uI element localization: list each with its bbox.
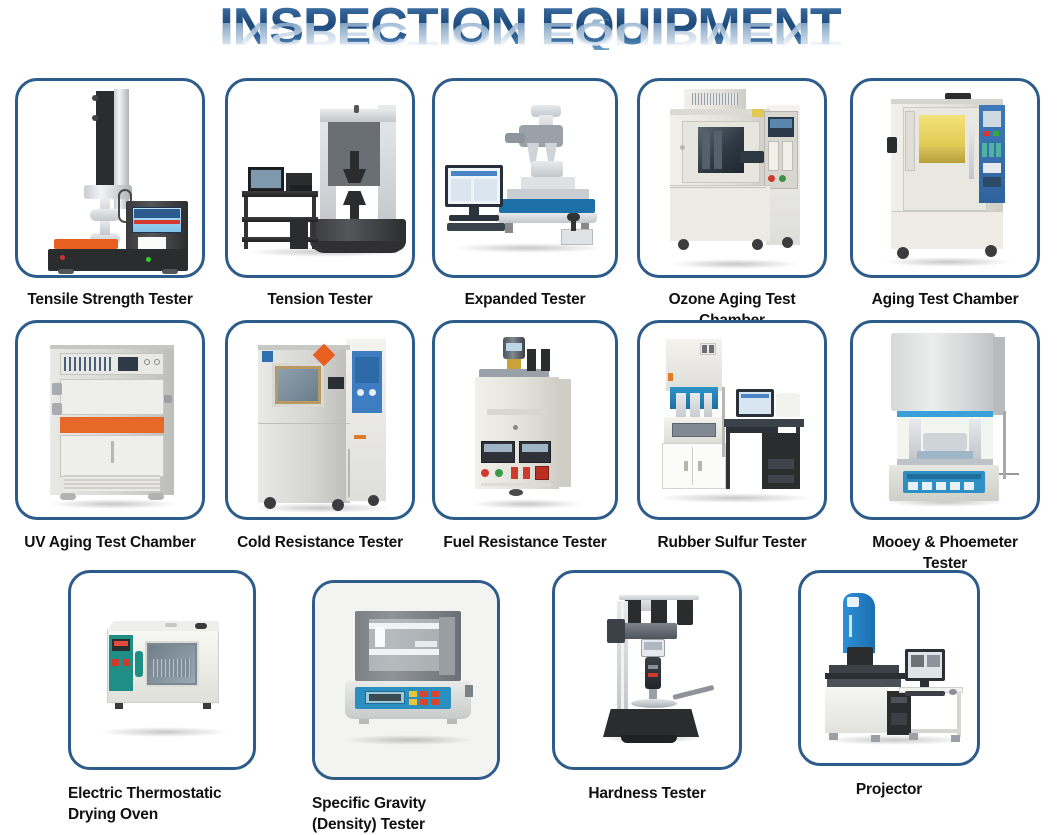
equipment-image-electric-thermostatic-drying-oven [71,573,253,767]
equipment-cell-hardness-tester[interactable]: Hardness Tester [552,570,742,804]
equipment-label-uv-aging-test-chamber: UV Aging Test Chamber [15,532,205,553]
equipment-image-cold-resistance-tester [228,323,412,517]
equipment-card-ozone-aging-test-chamber[interactable] [637,78,827,278]
equipment-card-rubber-sulfur-tester[interactable] [637,320,827,520]
equipment-cell-tension-tester[interactable]: Tension Tester [225,78,415,310]
page-header: INSPECTION EQUIPMENT INSPECTION EQUIPMEN… [0,0,1060,72]
equipment-label-rubber-sulfur-tester: Rubber Sulfur Tester [637,532,827,553]
page-title-reflection: INSPECTION EQUIPMENT [0,19,1060,48]
equipment-card-uv-aging-test-chamber[interactable] [15,320,205,520]
equipment-card-tensile-strength-tester[interactable] [15,78,205,278]
equipment-image-expanded-tester [435,81,615,275]
equipment-cell-electric-thermostatic-drying-oven[interactable]: Electric Thermostatic Drying Oven [68,570,256,825]
equipment-card-tension-tester[interactable] [225,78,415,278]
equipment-label-tension-tester: Tension Tester [225,289,415,310]
equipment-label-cold-resistance-tester: Cold Resistance Tester [225,532,415,553]
equipment-label-hardness-tester: Hardness Tester [552,783,742,804]
equipment-card-cold-resistance-tester[interactable] [225,320,415,520]
equipment-label-tensile-strength-tester: Tensile Strength Tester [15,289,205,310]
equipment-image-rubber-sulfur-tester [640,323,824,517]
equipment-image-mooey-phoemeter-tester [853,323,1037,517]
equipment-card-projector[interactable] [798,570,980,766]
equipment-label-projector: Projector [798,779,980,800]
equipment-label-aging-test-chamber: Aging Test Chamber [850,289,1040,310]
equipment-card-electric-thermostatic-drying-oven[interactable] [68,570,256,770]
equipment-card-fuel-resistance-tester[interactable] [432,320,618,520]
equipment-cell-ozone-aging-test-chamber[interactable]: Ozone Aging Test Chamber [637,78,827,331]
equipment-image-ozone-aging-test-chamber [640,81,824,275]
equipment-image-aging-test-chamber [853,81,1037,275]
equipment-cell-mooey-phoemeter-tester[interactable]: Mooey & Phoemeter Tester [850,320,1040,574]
equipment-cell-aging-test-chamber[interactable]: Aging Test Chamber [850,78,1040,310]
equipment-image-tension-tester [228,81,412,275]
equipment-cell-fuel-resistance-tester[interactable]: Fuel Resistance Tester [432,320,618,553]
equipment-cell-uv-aging-test-chamber[interactable]: UV Aging Test Chamber [15,320,205,553]
equipment-cell-projector[interactable]: Projector [798,570,980,800]
equipment-card-expanded-tester[interactable] [432,78,618,278]
equipment-image-hardness-tester [555,573,739,767]
equipment-card-specific-gravity-density-tester[interactable] [312,580,500,780]
equipment-label-expanded-tester: Expanded Tester [432,289,618,310]
equipment-card-aging-test-chamber[interactable] [850,78,1040,278]
equipment-card-hardness-tester[interactable] [552,570,742,770]
equipment-label-mooey-phoemeter-tester: Mooey & Phoemeter Tester [850,532,1040,574]
equipment-cell-specific-gravity-density-tester[interactable]: Specific Gravity (Density) Tester [312,580,500,835]
equipment-image-uv-aging-test-chamber [18,323,202,517]
equipment-cell-cold-resistance-tester[interactable]: Cold Resistance Tester [225,320,415,553]
equipment-image-specific-gravity-density-tester [315,583,497,777]
equipment-label-fuel-resistance-tester: Fuel Resistance Tester [432,532,618,553]
equipment-cell-expanded-tester[interactable]: Expanded Tester [432,78,618,310]
equipment-cell-rubber-sulfur-tester[interactable]: Rubber Sulfur Tester [637,320,827,553]
equipment-image-tensile-strength-tester [18,81,202,275]
equipment-image-fuel-resistance-tester [435,323,615,517]
equipment-card-mooey-phoemeter-tester[interactable] [850,320,1040,520]
equipment-label-electric-thermostatic-drying-oven: Electric Thermostatic Drying Oven [68,783,256,825]
equipment-label-specific-gravity-density-tester: Specific Gravity (Density) Tester [312,793,500,835]
equipment-cell-tensile-strength-tester[interactable]: Tensile Strength Tester [15,78,205,310]
equipment-image-projector [801,573,977,763]
